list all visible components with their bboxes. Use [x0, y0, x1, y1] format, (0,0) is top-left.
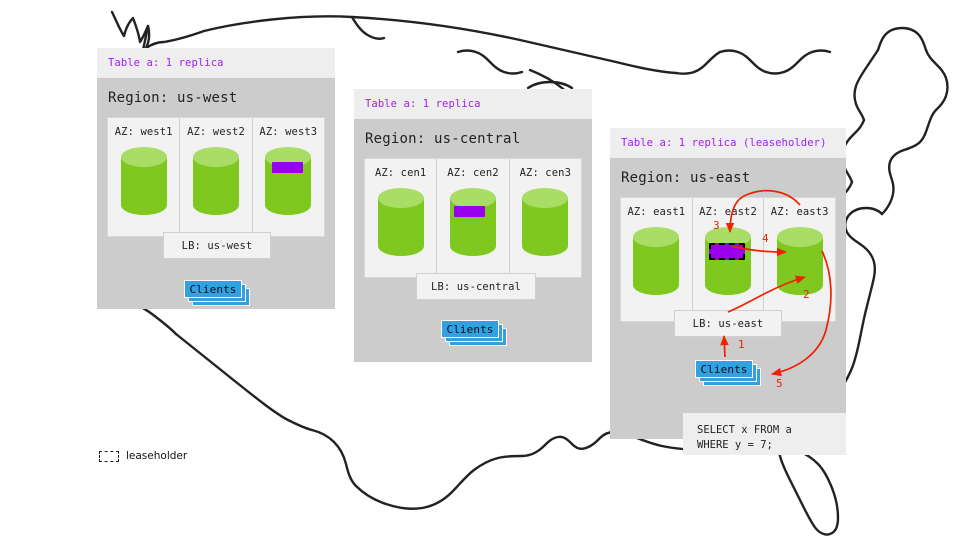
region-panel-us-central: Table a: 1 replica Region: us-central AZ…: [354, 89, 592, 362]
region-title-us-west: Region: us-west: [97, 78, 335, 117]
az-label-west2: AZ: west2: [180, 126, 251, 138]
clients-button-us-east[interactable]: Clients: [695, 360, 753, 378]
cylinder-east3[interactable]: [776, 225, 824, 297]
replica-bar-cen2[interactable]: [454, 206, 485, 217]
clients-button-us-central[interactable]: Clients: [441, 320, 499, 338]
az-label-west1: AZ: west1: [108, 126, 179, 138]
step-number-2: 2: [803, 288, 810, 301]
cylinder-west2[interactable]: [192, 145, 240, 217]
cylinder-east1[interactable]: [632, 225, 680, 297]
step-number-3: 3: [713, 219, 720, 232]
clients-label: Clients: [700, 363, 747, 376]
cylinder-wrap-cen3: [510, 186, 581, 258]
load-balancer-us-east[interactable]: LB: us-east: [674, 310, 782, 337]
leaseholder-bar-east2[interactable]: [709, 243, 745, 260]
clients-button-us-west[interactable]: Clients: [184, 280, 242, 298]
cylinder-wrap-east1: [621, 225, 692, 297]
cylinder-icon: [632, 225, 680, 297]
cylinder-wrap-east3: [764, 225, 835, 297]
cylinder-west1[interactable]: [120, 145, 168, 217]
region-header-us-west: Table a: 1 replica: [97, 48, 335, 78]
az-label-cen3: AZ: cen3: [510, 167, 581, 179]
cylinder-icon: [192, 145, 240, 217]
az-cell-east2[interactable]: AZ: east2: [693, 198, 765, 321]
az-label-east1: AZ: east1: [621, 206, 692, 218]
region-header-us-east: Table a: 1 replica (leaseholder): [610, 128, 846, 158]
load-balancer-us-west[interactable]: LB: us-west: [163, 232, 271, 259]
az-cell-cen3[interactable]: AZ: cen3: [510, 159, 581, 277]
az-cell-cen1[interactable]: AZ: cen1: [365, 159, 437, 277]
az-cell-east3[interactable]: AZ: east3: [764, 198, 835, 321]
cylinder-wrap-west3: [253, 145, 324, 217]
clients-us-west[interactable]: Clients: [184, 280, 252, 306]
diagram-canvas: Table a: 1 replica Region: us-west AZ: w…: [0, 0, 960, 540]
load-balancer-us-central[interactable]: LB: us-central: [416, 273, 536, 300]
region-title-us-east: Region: us-east: [610, 158, 846, 197]
cylinder-icon: [704, 225, 752, 297]
clients-label: Clients: [189, 283, 236, 296]
cylinder-wrap-west1: [108, 145, 179, 217]
cylinder-wrap-west2: [180, 145, 251, 217]
cylinder-icon: [120, 145, 168, 217]
az-cell-cen2[interactable]: AZ: cen2: [437, 159, 509, 277]
cylinder-cen1[interactable]: [377, 186, 425, 258]
leaseholder-swatch-icon: [99, 451, 119, 462]
clients-us-east[interactable]: Clients: [695, 360, 763, 386]
region-panel-us-west: Table a: 1 replica Region: us-west AZ: w…: [97, 48, 335, 309]
clients-us-central[interactable]: Clients: [441, 320, 509, 346]
region-panel-us-east: Table a: 1 replica (leaseholder) Region:…: [610, 128, 846, 439]
sql-query-box: SELECT x FROM a WHERE y = 7;: [683, 413, 846, 455]
az-label-cen2: AZ: cen2: [437, 167, 508, 179]
az-row-us-central: AZ: cen1 AZ: cen2: [364, 158, 582, 278]
az-label-east3: AZ: east3: [764, 206, 835, 218]
az-cell-east1[interactable]: AZ: east1: [621, 198, 693, 321]
step-number-1: 1: [738, 338, 745, 351]
az-cell-west3[interactable]: AZ: west3: [253, 118, 324, 236]
region-body-us-west: Region: us-west AZ: west1 AZ: west: [97, 78, 335, 309]
legend: leaseholder: [99, 450, 187, 462]
cylinder-icon: [521, 186, 569, 258]
cylinder-east2[interactable]: [704, 225, 752, 297]
az-label-cen1: AZ: cen1: [365, 167, 436, 179]
region-header-us-central: Table a: 1 replica: [354, 89, 592, 119]
cylinder-wrap-east2: [693, 225, 764, 297]
cylinder-cen2[interactable]: [449, 186, 497, 258]
az-cell-west2[interactable]: AZ: west2: [180, 118, 252, 236]
replica-bar-west3[interactable]: [272, 162, 303, 173]
az-cell-west1[interactable]: AZ: west1: [108, 118, 180, 236]
az-row-us-west: AZ: west1 AZ: west2: [107, 117, 325, 237]
step-number-5: 5: [776, 377, 783, 390]
clients-label: Clients: [446, 323, 493, 336]
cylinder-icon: [449, 186, 497, 258]
cylinder-icon: [776, 225, 824, 297]
region-body-us-east: Region: us-east AZ: east1 AZ: east: [610, 158, 846, 439]
cylinder-wrap-cen2: [437, 186, 508, 258]
step-number-4: 4: [762, 232, 769, 245]
cylinder-west3[interactable]: [264, 145, 312, 217]
legend-label: leaseholder: [126, 450, 187, 462]
cylinder-icon: [377, 186, 425, 258]
az-row-us-east: AZ: east1 AZ: east2: [620, 197, 836, 322]
cylinder-wrap-cen1: [365, 186, 436, 258]
az-label-east2: AZ: east2: [693, 206, 764, 218]
region-title-us-central: Region: us-central: [354, 119, 592, 158]
cylinder-cen3[interactable]: [521, 186, 569, 258]
cylinder-icon: [264, 145, 312, 217]
az-label-west3: AZ: west3: [253, 126, 324, 138]
